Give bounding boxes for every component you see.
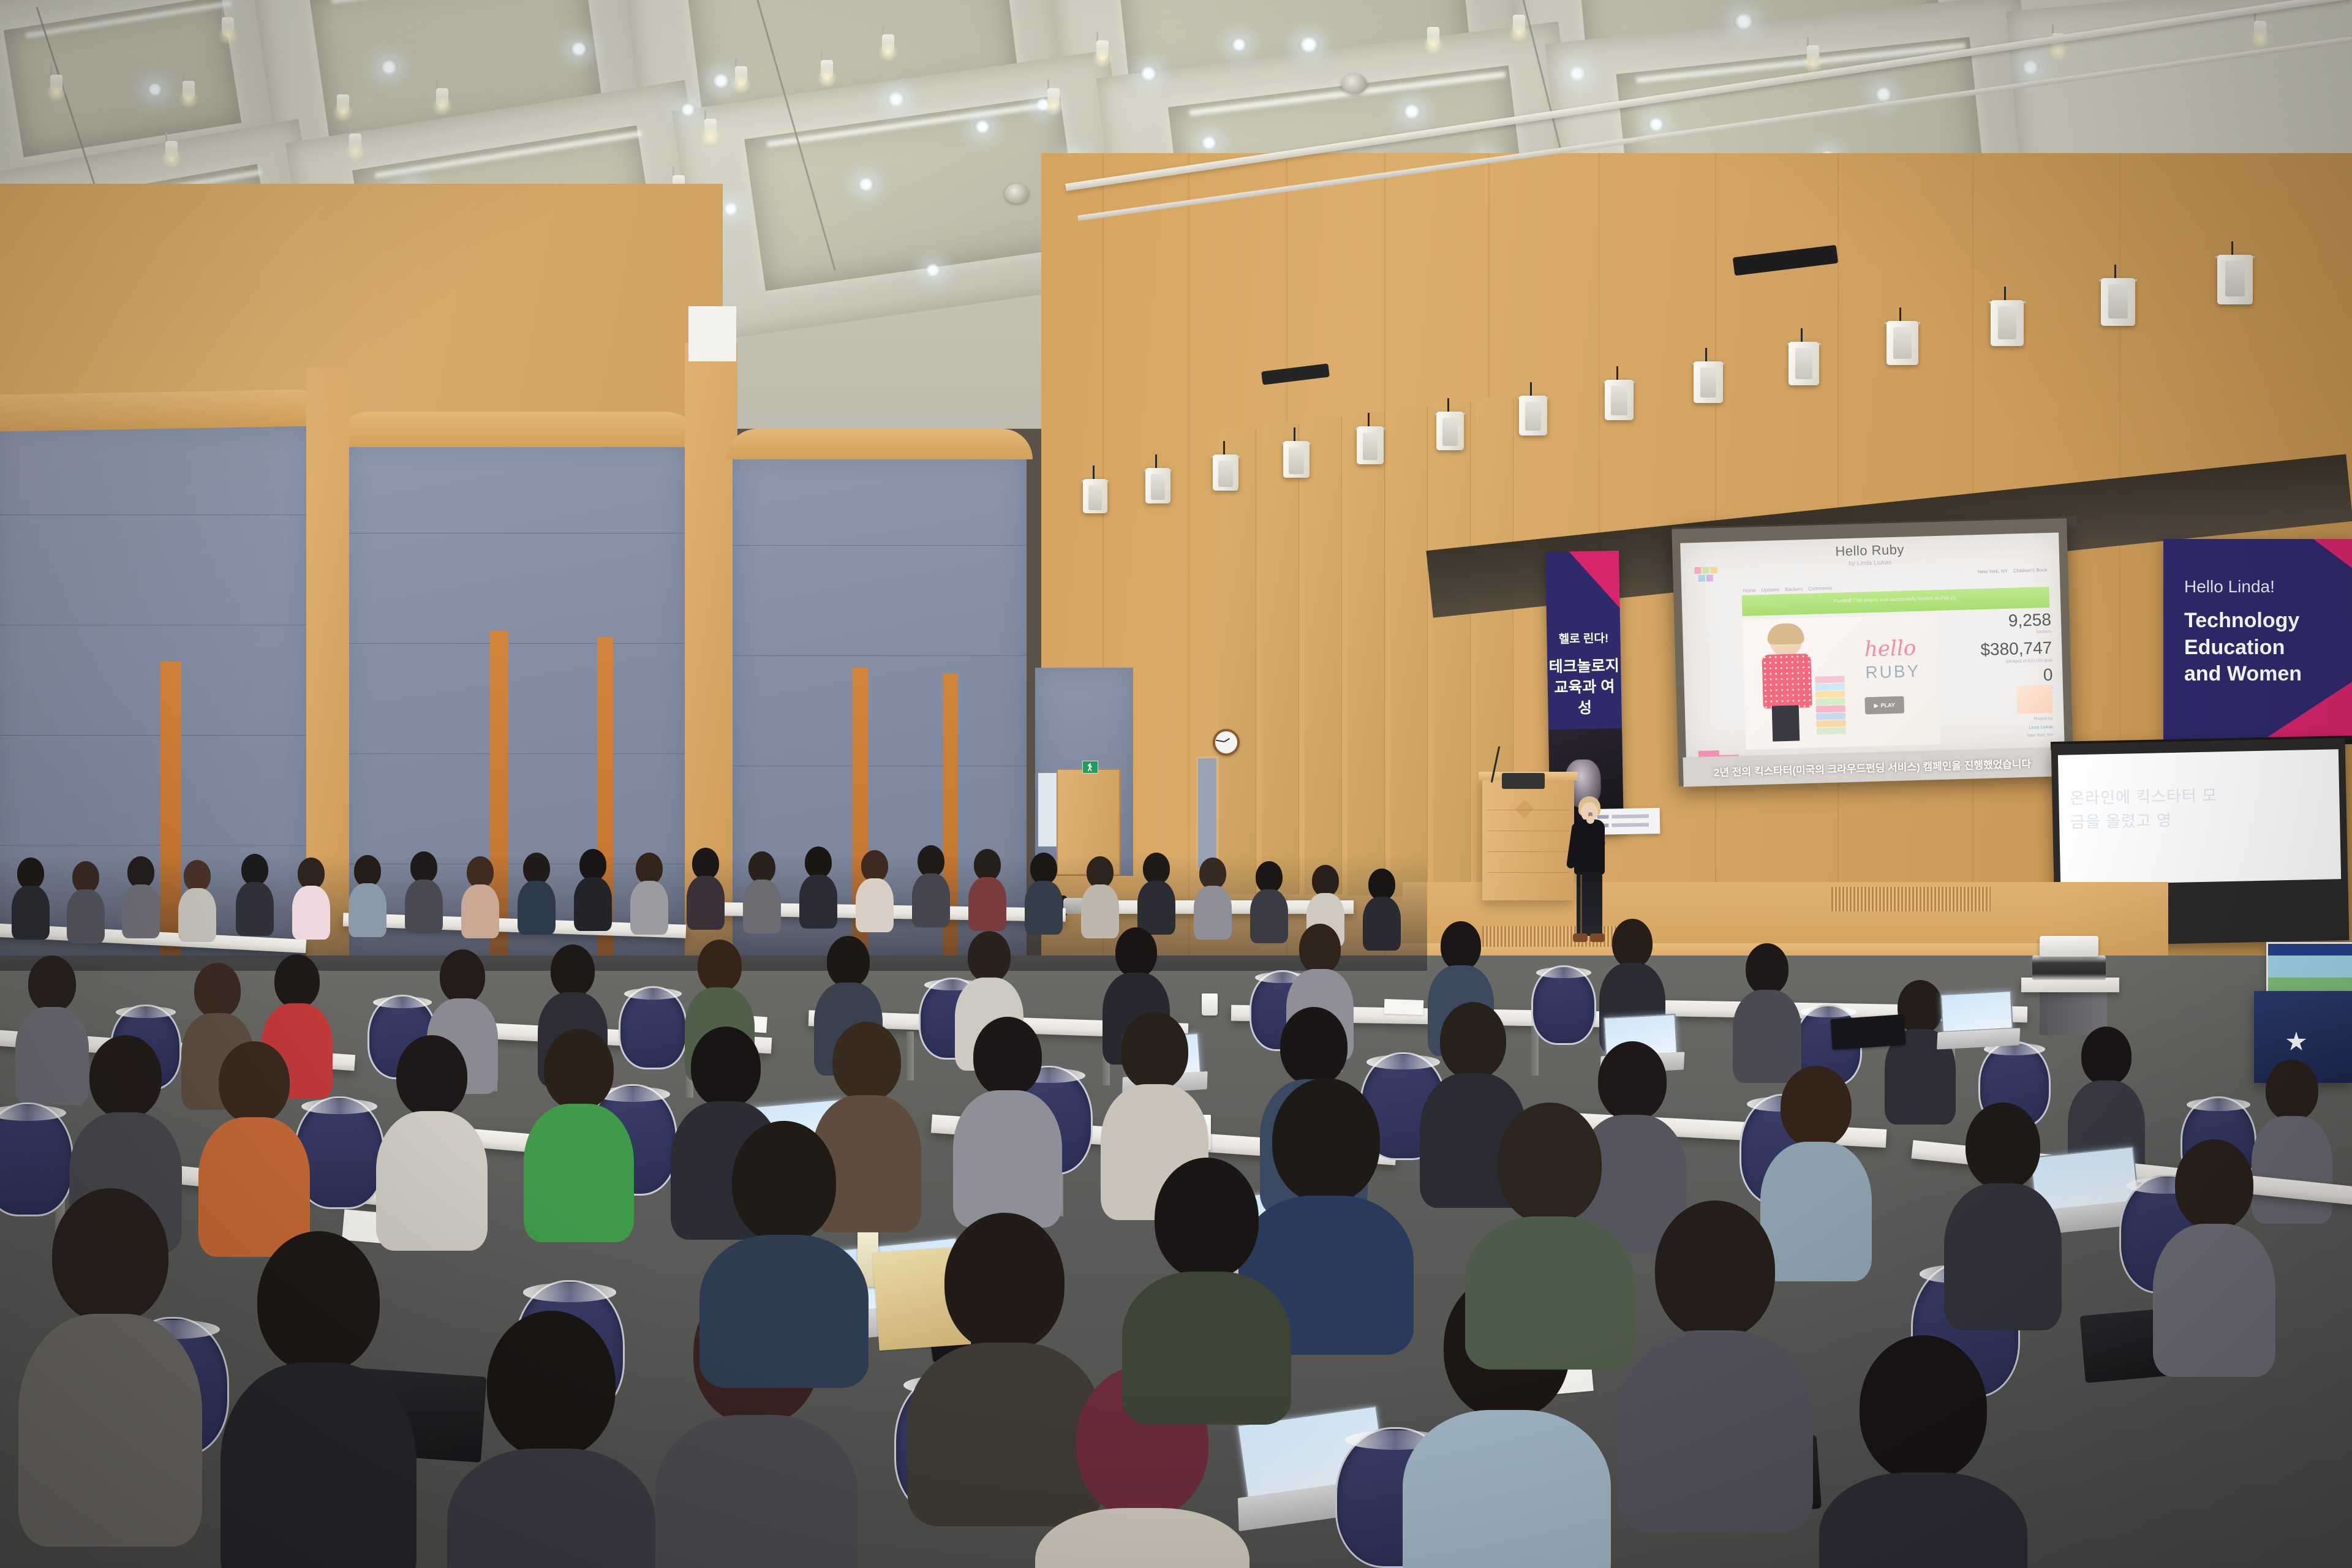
nav-updates: Updates [1762, 587, 1780, 593]
ceiling-speaker-icon [1341, 73, 1367, 94]
audience-person [1623, 1200, 1807, 1519]
audience-person [12, 858, 49, 937]
creator-label: Project by [2034, 717, 2052, 722]
audience-person [24, 1188, 196, 1531]
secondary-screen-line1: 온라인에 킥스타터 모 [2070, 786, 2217, 807]
audience-person [518, 853, 555, 932]
ceiling-downlight [887, 92, 905, 107]
creator-name: Linda Liukas [2029, 725, 2052, 730]
audience-person [1363, 869, 1400, 948]
equipment-flight-case [2032, 956, 2106, 980]
banner-en-line2: Technology [2184, 609, 2299, 632]
stage-wall-fin [1390, 407, 1428, 897]
ceiling-downlight [858, 178, 875, 191]
stage-floodlight [1519, 388, 1547, 443]
stage-wall-fin [1305, 417, 1342, 894]
stage-floodlight [2101, 271, 2135, 337]
lectern [1482, 778, 1574, 900]
banner-en-line3: Education [2184, 636, 2285, 659]
audience-person [1025, 853, 1062, 932]
audience-person [1470, 1102, 1629, 1347]
stage-wall-fin [1347, 412, 1385, 895]
wood-arch-left-2 [334, 412, 701, 447]
stage-floodlight [1789, 334, 1819, 394]
nav-comments: Comments [1808, 586, 1832, 592]
stage-floodlight [1694, 354, 1723, 412]
banner-ko-line2: 테크놀로지 [1549, 657, 1619, 676]
white-column-cap [688, 306, 736, 361]
stage-floodlight [1357, 419, 1384, 472]
slide-caption-text: 2년 전의 킥스타터(미국의 크라우드펀딩 서비스) 캠페인을 진행했었습니다 [1714, 755, 2032, 778]
funded-status-text: Funded! This project was successfully fu… [1742, 592, 2049, 606]
nav-backers: Backers [1785, 586, 1803, 592]
play-label: PLAY [1880, 702, 1894, 709]
ceiling-downlight [2021, 60, 2040, 75]
exit-sign-icon [1082, 761, 1098, 774]
stage-wall-fin [1262, 423, 1299, 894]
audience-person [956, 1017, 1060, 1219]
audience-person [1251, 861, 1287, 941]
audience-chair[interactable] [1531, 965, 1596, 1045]
handout-paper [1384, 999, 1424, 1015]
stage-floodlight [1991, 293, 2024, 356]
stat-backers-label: backers [2037, 630, 2052, 635]
secondary-screen-line2: 금을 올렸고 영 [2070, 811, 2173, 831]
hello-linda-banner-english: Hello Linda! Technology Education and Wo… [2163, 539, 2352, 741]
audience-person [527, 1029, 631, 1231]
audience-person [123, 856, 159, 936]
audience-person [575, 849, 611, 929]
lectern-equipment [1502, 773, 1545, 789]
stage-vent-grille-2 [1831, 887, 1991, 911]
audience-person [856, 850, 893, 930]
stat-seconds-value: 0 [2043, 665, 2052, 685]
ceiling-downlight [147, 83, 163, 96]
slide-meta: New York, NY Children's Book [1978, 567, 2048, 575]
ceiling-downlight [1403, 104, 1421, 119]
wall-speaker-panel [1196, 756, 1218, 870]
play-button[interactable]: ▶ PLAY [1864, 696, 1904, 715]
audience-person [1948, 1102, 2058, 1317]
audience-person [1733, 943, 1801, 1084]
ceiling-downlight [680, 103, 696, 116]
audience-person [687, 848, 724, 927]
audience-person [227, 1231, 410, 1568]
ceiling-speaker-icon [1005, 184, 1029, 203]
stage-floodlight [1283, 434, 1310, 485]
banner-en-line1: Hello Linda! [2184, 577, 2275, 597]
audience-person [969, 849, 1006, 929]
main-projection-screen: Hello Ruby by Linda Liukas New York, NY … [1680, 532, 2065, 758]
ceiling-downlight [1200, 136, 1218, 149]
ceiling-downlight [925, 263, 941, 277]
ceiling-downlight [712, 73, 730, 88]
stage-wall-fin [1219, 429, 1256, 894]
audience-person [405, 851, 442, 931]
ceiling-downlight [380, 60, 398, 75]
ceiling-downlight [1139, 66, 1158, 81]
slide-meta-location: New York, NY [1978, 568, 2008, 575]
stage-floodlight [1436, 404, 1464, 458]
audience-person [179, 860, 216, 940]
stage-floodlight [1887, 314, 1918, 375]
ceiling-downlight [723, 202, 739, 216]
creator-location: New York, NY [2027, 733, 2053, 738]
audience-person [1138, 853, 1175, 932]
ceiling-downlight [1874, 87, 1893, 102]
audience-person [202, 1041, 306, 1243]
stat-pledged-label: pledged of $10,000 goal [2007, 658, 2052, 664]
info-signboard [2266, 942, 2352, 998]
stage-floodlight [2217, 247, 2253, 316]
stage-floodlight [1145, 461, 1170, 510]
wood-arch-left-3 [726, 429, 1033, 459]
ceiling-downlight [570, 42, 588, 56]
audience-person [2156, 1139, 2272, 1366]
audience-person [1127, 1158, 1286, 1403]
audience-person [744, 851, 780, 931]
ceiling-downlight [1648, 118, 1665, 131]
stage-floodlight [1213, 447, 1238, 497]
attendee-tablet[interactable] [1830, 1014, 1905, 1050]
audience-person [1825, 1335, 2021, 1568]
stage-wall-fin [1433, 402, 1471, 895]
audience-person [349, 855, 386, 935]
project-hero-image: hello RUBY ▶ PLAY [1743, 614, 1941, 750]
audience-person [1082, 856, 1118, 936]
banner-ko-line3: 교육과 여성 [1554, 678, 1615, 717]
audience-person [704, 1121, 864, 1366]
nav-home: Home [1743, 587, 1756, 594]
banner-en-line4: and Women [2184, 662, 2302, 685]
kickstarter-logo-icon [1694, 567, 1719, 583]
audience-person [1194, 858, 1231, 937]
wood-arch-left-1 [0, 389, 331, 432]
attendee-laptop[interactable] [1940, 990, 2014, 1048]
audience-person [293, 858, 330, 937]
ceiling-downlight [1568, 66, 1586, 81]
audience-person [631, 853, 668, 932]
hero-ruby-text: RUBY [1865, 661, 1921, 682]
audience-person [913, 845, 949, 925]
ceiling-downlight [974, 120, 991, 134]
stat-pledged-value: $380,747 [1980, 638, 2052, 660]
creator-avatar [2016, 685, 2052, 714]
slide-meta-category: Children's Book [2013, 567, 2048, 574]
conference-hall-photo: 헬로 린다! 테크놀로지 교육과 여성 Hello Linda! Technol… [0, 0, 2352, 1568]
stage-floodlight [1083, 472, 1107, 519]
audience-person [453, 1311, 649, 1568]
hero-hello-text: hello [1864, 636, 1916, 661]
stat-backers-value: 9,258 [2008, 610, 2051, 631]
ceiling-downlight [1733, 13, 1754, 29]
ceiling-downlight [1231, 38, 1247, 51]
play-triangle-icon: ▶ [1874, 702, 1879, 709]
star-logo-icon [2286, 1031, 2307, 1052]
wall-clock-icon [1213, 729, 1240, 756]
video-projector [2040, 936, 2098, 957]
slide-nav: Home Updates Backers Comments [1743, 586, 1832, 594]
stage-floodlight [1605, 372, 1634, 429]
banner-ko-line1: 헬로 린다! [1547, 629, 1620, 647]
audience-person [67, 861, 104, 941]
audience-person [462, 856, 499, 936]
ceiling-downlight [1298, 37, 1319, 53]
audience-person [236, 854, 273, 933]
audience-person [800, 846, 837, 926]
audience-person [380, 1035, 484, 1237]
secondary-projection-screen: 온라인에 킥스타터 모 금을 올렸고 영 [2058, 749, 2341, 885]
